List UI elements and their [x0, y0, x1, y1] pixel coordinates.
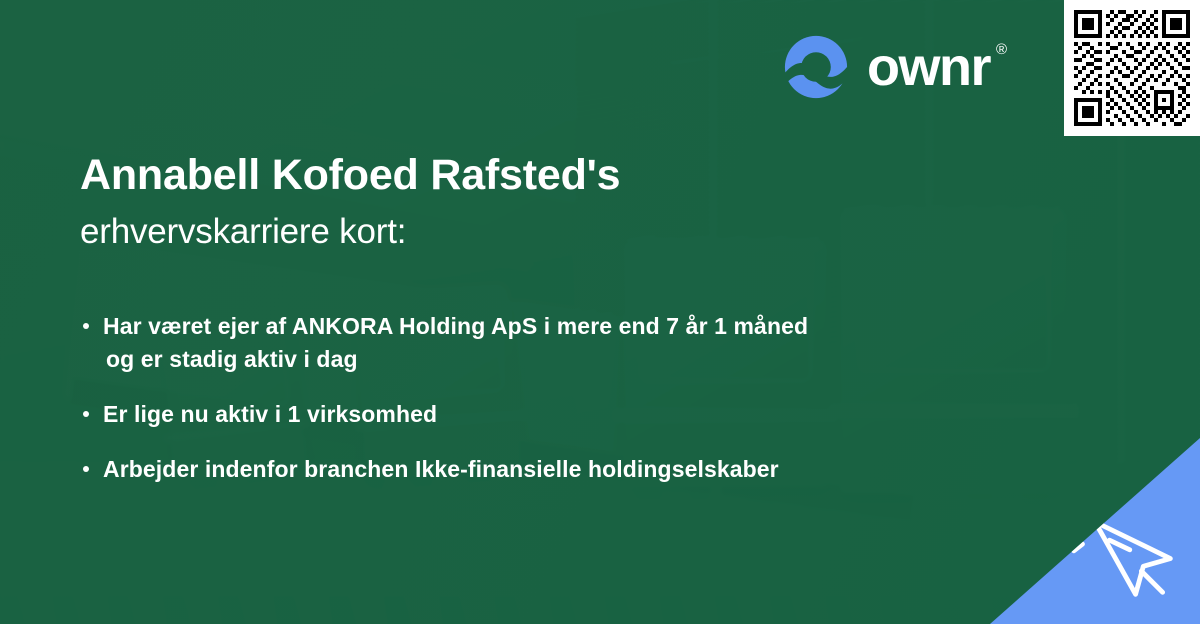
list-item: Arbejder indenfor branchen Ikke-finansie… [82, 453, 1062, 486]
list-item-line2: og er stadig aktiv i dag [103, 343, 1062, 376]
ownr-wordmark: ownr ® [867, 40, 990, 94]
page-subtitle: erhvervskarriere kort: [80, 211, 1030, 253]
list-item: Er lige nu aktiv i 1 virksomhed [82, 398, 1062, 431]
ownr-circle-wave-logo-icon [779, 30, 853, 104]
career-facts-list: Har været ejer af ANKORA Holding ApS i m… [82, 310, 1062, 486]
qr-code-svg [1074, 10, 1190, 126]
registered-trademark-symbol: ® [996, 42, 1007, 57]
ownr-logo[interactable]: ownr ® [779, 30, 990, 104]
bullet-dot-icon [83, 466, 89, 472]
list-item-line1: Er lige nu aktiv i 1 virksomhed [103, 401, 437, 427]
qr-code[interactable] [1064, 0, 1200, 136]
page-title: Annabell Kofoed Rafsted's [80, 150, 1030, 201]
list-item-line1: Har været ejer af ANKORA Holding ApS i m… [103, 313, 808, 339]
bullet-dot-icon [83, 323, 89, 329]
list-item-line1: Arbejder indenfor branchen Ikke-finansie… [103, 456, 779, 482]
career-card: ownr ® Annabell Kofoed Rafsted's erhverv… [0, 0, 1200, 624]
ownr-wordmark-text: ownr [867, 37, 990, 97]
list-item: Har været ejer af ANKORA Holding ApS i m… [82, 310, 1062, 376]
bullet-dot-icon [83, 411, 89, 417]
headline-block: Annabell Kofoed Rafsted's erhvervskarrie… [80, 150, 1030, 253]
